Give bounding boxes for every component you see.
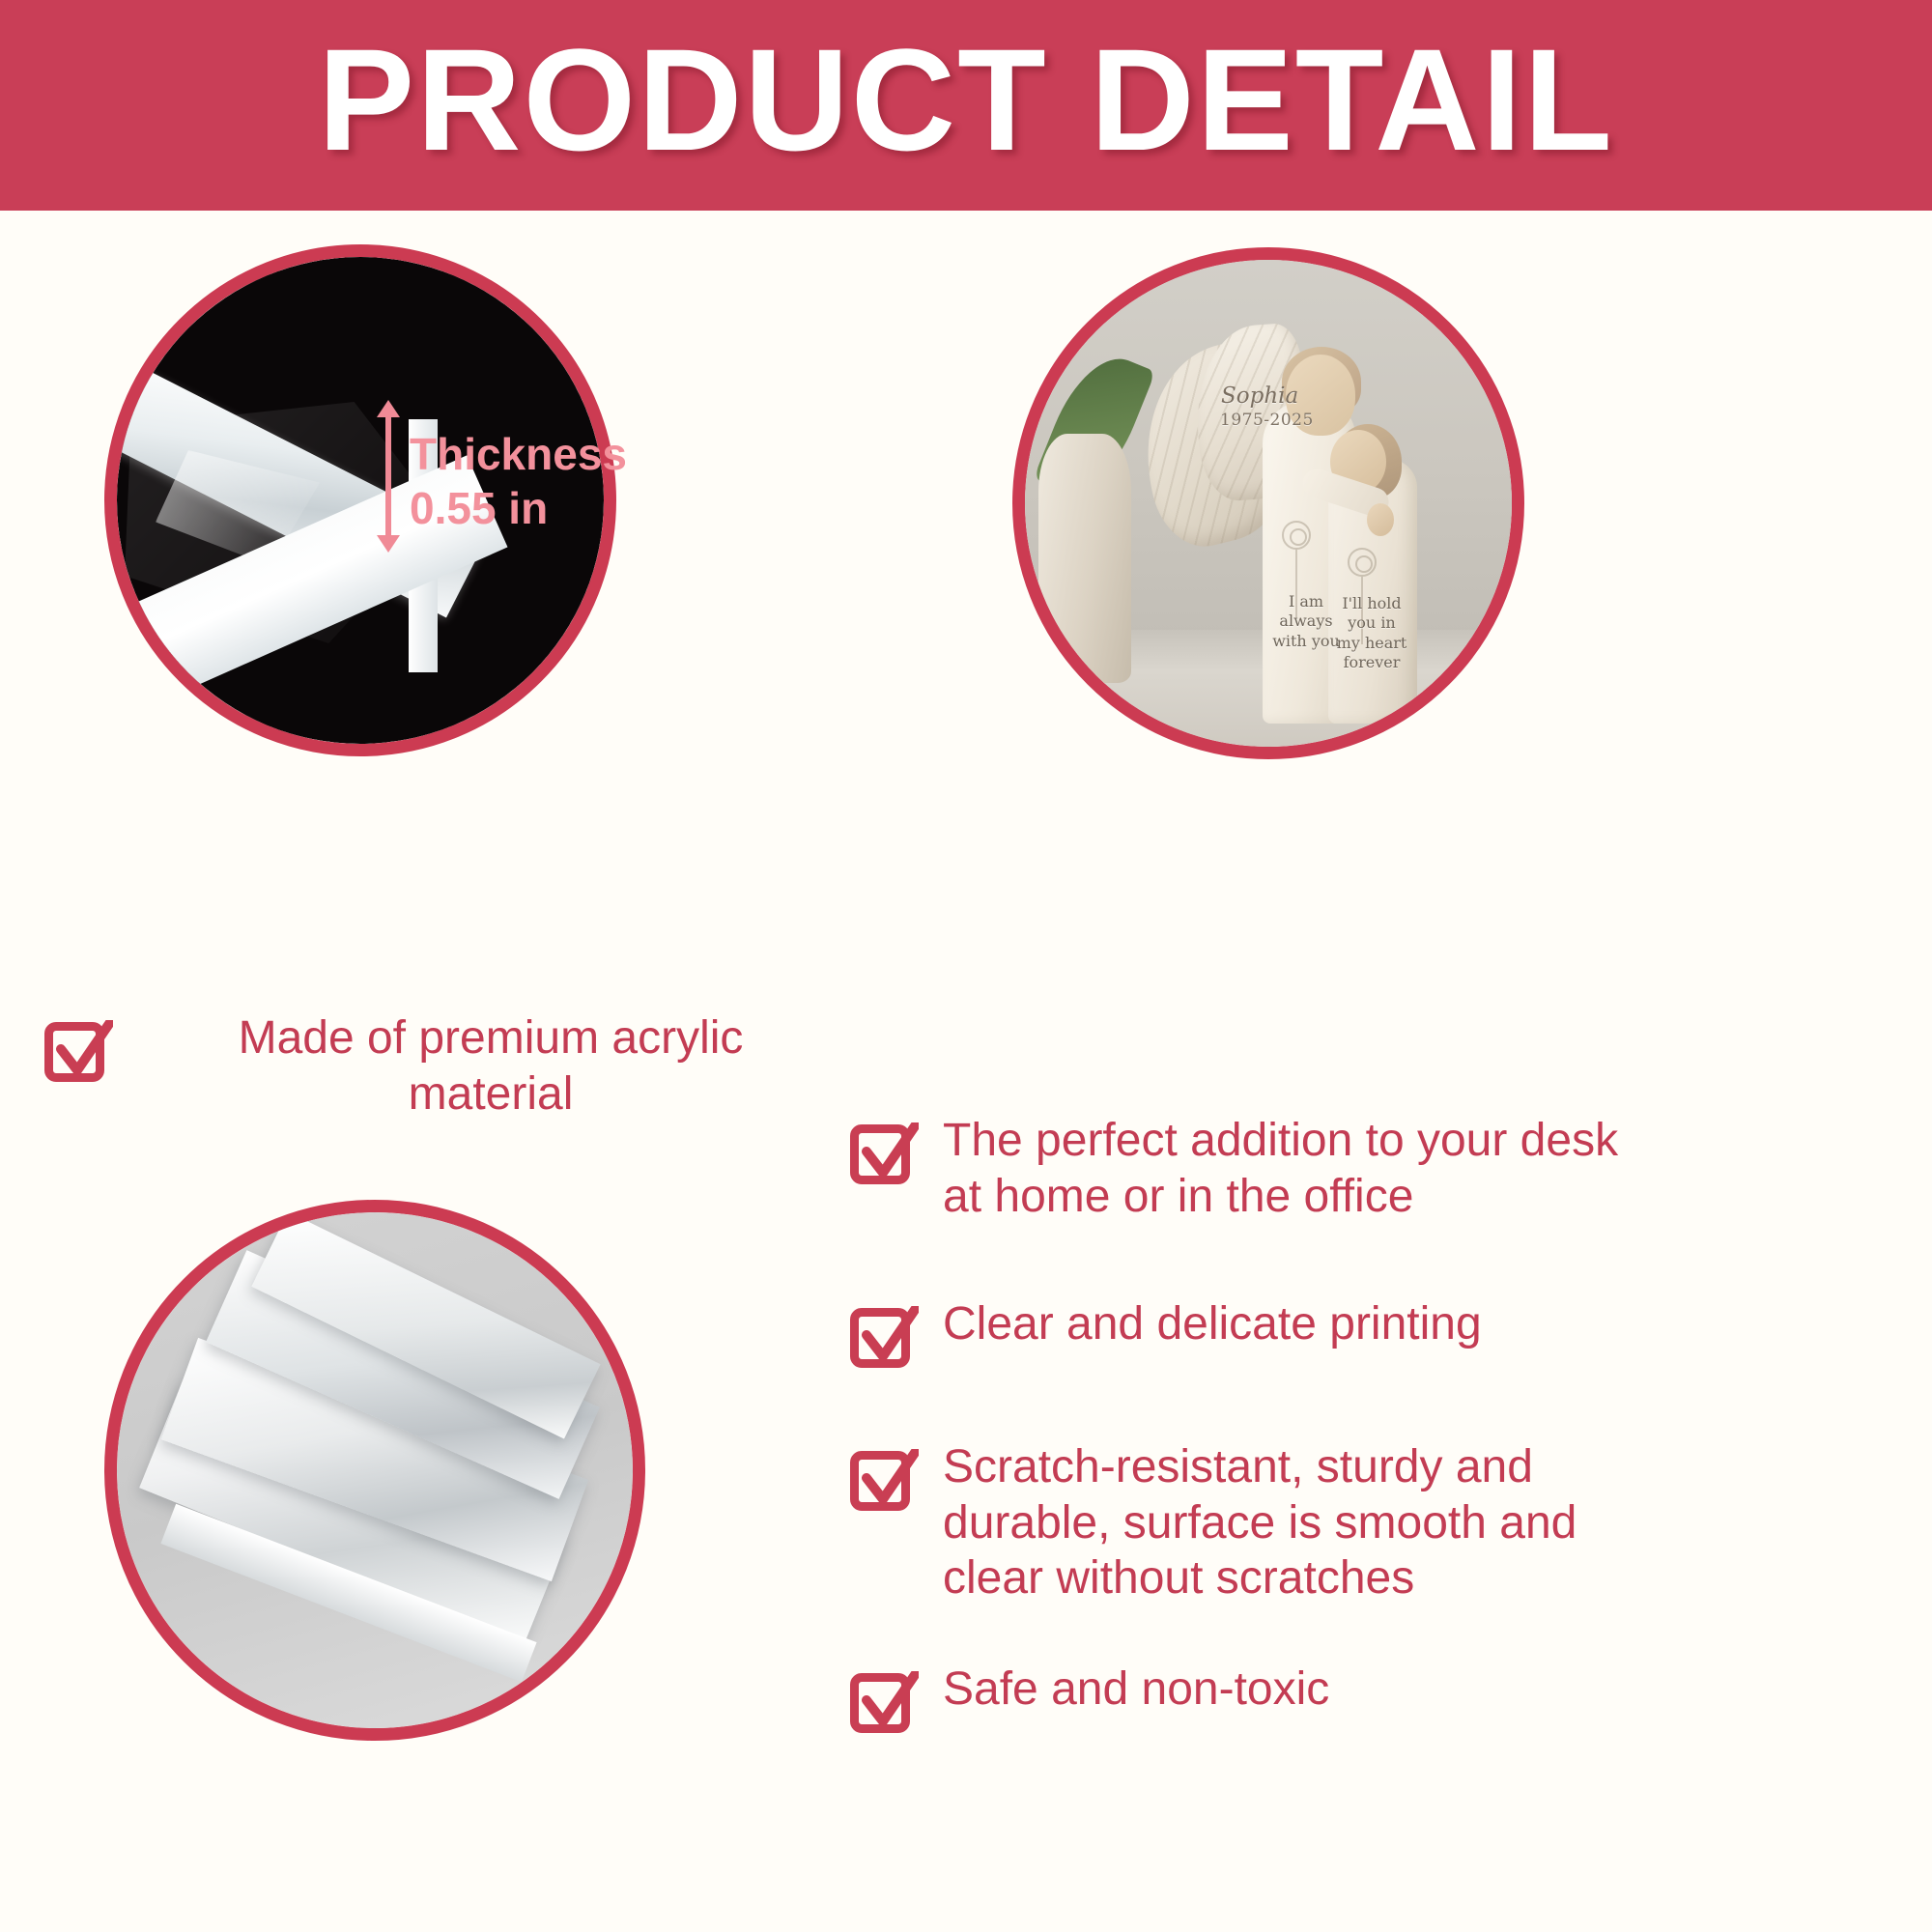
stacked-acrylic-sheets-photo [117, 1212, 633, 1728]
feature-bullet-acrylic: Made of premium acrylic material [44, 1010, 885, 1122]
product-image-angel-figurine: Sophia 1975-2025 I am always with you I'… [1012, 247, 1524, 759]
checkmark-icon [859, 1671, 919, 1731]
page-title: PRODUCT DETAIL [318, 27, 1614, 172]
header-band: PRODUCT DETAIL [0, 0, 1932, 211]
feature-bullet-printing: Clear and delicate printing [850, 1296, 1922, 1372]
checkmark-icon [53, 1020, 113, 1080]
checkbox-check-icon [44, 1014, 116, 1086]
thickness-callout-label: Thickness 0.55 in [410, 427, 627, 535]
checkbox-check-icon [850, 1443, 922, 1515]
feature-bullet-label: Made of premium acrylic material [133, 1010, 848, 1122]
scene-vase [1038, 434, 1131, 683]
carved-rose-icon [1348, 548, 1377, 577]
engraved-dates: 1975-2025 [1220, 411, 1314, 430]
feature-bullet-scratch-resistant: Scratch-resistant, sturdy and durable, s… [850, 1439, 1922, 1606]
product-image-acrylic-sheets [104, 1200, 645, 1741]
robe-quote-left: I am always with you [1268, 592, 1344, 651]
carved-rose-icon [1282, 521, 1311, 550]
checkmark-icon [859, 1306, 919, 1366]
checkmark-icon [859, 1449, 919, 1509]
robe-quote-right: I'll hold you in my heart forever [1334, 594, 1409, 673]
feature-bullet-label: Scratch-resistant, sturdy and durable, s… [943, 1439, 1577, 1606]
checkbox-check-icon [850, 1300, 922, 1372]
feature-bullet-label: The perfect addition to your desk at hom… [943, 1113, 1618, 1224]
feature-bullet-label: Clear and delicate printing [943, 1296, 1482, 1352]
engraved-name: Sophia [1221, 384, 1298, 409]
thickness-arrow-icon [385, 415, 391, 537]
angel-hand [1367, 503, 1394, 536]
feature-bullet-desk: The perfect addition to your desk at hom… [850, 1113, 1922, 1224]
angel-figurine: Sophia 1975-2025 I am always with you I'… [1141, 312, 1431, 737]
angel-figurine-photo: Sophia 1975-2025 I am always with you I'… [1025, 260, 1512, 747]
feature-bullet-safe-non-toxic: Safe and non-toxic [850, 1662, 1922, 1737]
checkbox-check-icon [850, 1117, 922, 1188]
feature-bullet-label: Safe and non-toxic [943, 1662, 1329, 1718]
checkbox-check-icon [850, 1665, 922, 1737]
checkmark-icon [859, 1122, 919, 1182]
